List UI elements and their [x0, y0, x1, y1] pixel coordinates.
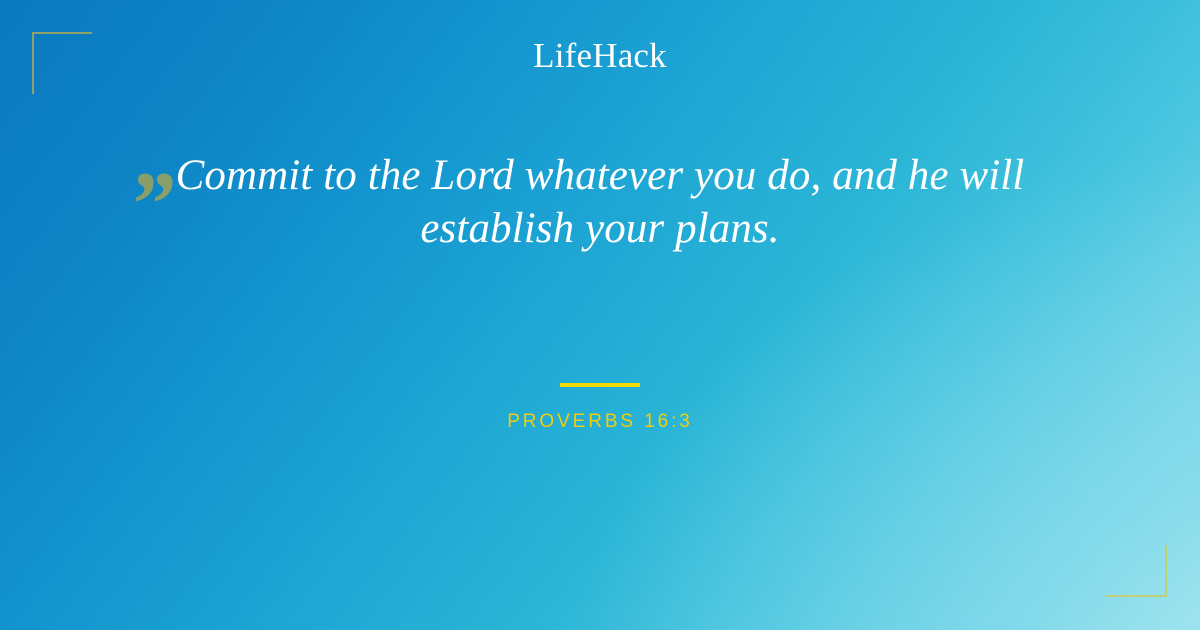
corner-bracket-bottom-right-icon: [1105, 545, 1167, 597]
attribution-source: PROVERBS 16:3: [0, 412, 1200, 431]
quote-text: Commit to the Lord whatever you do, and …: [0, 150, 1200, 256]
brand-logo: LifeHack: [0, 38, 1200, 73]
quote-block: ” Commit to the Lord whatever you do, an…: [0, 150, 1200, 256]
quotation-mark-icon: ”: [128, 158, 174, 250]
divider-rule: [560, 383, 640, 387]
attribution-area: PROVERBS 16:3: [0, 383, 1200, 431]
quote-card: LifeHack ” Commit to the Lord whatever y…: [0, 0, 1200, 630]
